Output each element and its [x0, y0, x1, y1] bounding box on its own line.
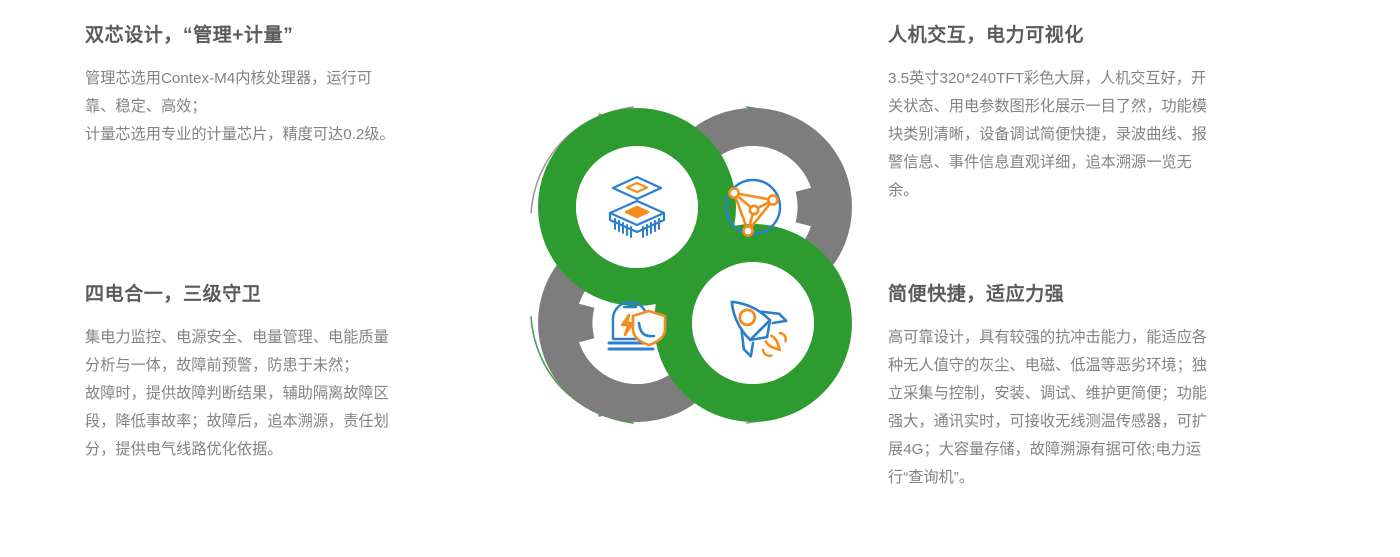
feature-body-line: 故障时，提供故障判断结果，辅助隔离故障区: [85, 380, 515, 408]
feature-body-line: 3.5英寸320*240TFT彩色大屏，人机交互好，开: [888, 65, 1318, 93]
feature-body: 高可靠设计，具有较强的抗冲击能力，能适应各 种无人值守的灰尘、电磁、低温等恶劣环…: [888, 324, 1318, 492]
feature-body-line: 计量芯选用专业的计量芯片，精度可达0.2级。: [85, 121, 515, 149]
central-rings-graphic: [525, 95, 865, 435]
feature-block-four-in-one: 四电合一，三级守卫 集电力监控、电源安全、电量管理、电能质量 分析与一体，故障前…: [85, 283, 515, 464]
feature-body-line: 段，降低事故率；故障后，追本溯源，责任划: [85, 408, 515, 436]
feature-body: 集电力监控、电源安全、电量管理、电能质量 分析与一体，故障前预警，防患于未然； …: [85, 324, 515, 464]
feature-body-line: 分，提供电气线路优化依据。: [85, 436, 515, 464]
feature-body-line: 高可靠设计，具有较强的抗冲击能力，能适应各: [888, 324, 1318, 352]
feature-title: 四电合一，三级守卫: [85, 283, 515, 308]
feature-body: 管理芯选用Contex-M4内核处理器，运行可 靠、稳定、高效； 计量芯选用专业…: [85, 65, 515, 149]
feature-body-line: 靠、稳定、高效；: [85, 93, 515, 121]
feature-title: 双芯设计，“管理+计量”: [85, 24, 515, 49]
feature-body-line: 关状态、用电参数图形化展示一目了然，功能模: [888, 93, 1318, 121]
feature-block-dual-core: 双芯设计，“管理+计量” 管理芯选用Contex-M4内核处理器，运行可 靠、稳…: [85, 24, 515, 149]
feature-block-easy-adaptable: 简便快捷，适应力强 高可靠设计，具有较强的抗冲击能力，能适应各 种无人值守的灰尘…: [888, 283, 1318, 492]
feature-grid-page: 双芯设计，“管理+计量” 管理芯选用Contex-M4内核处理器，运行可 靠、稳…: [0, 0, 1400, 557]
feature-title: 简便快捷，适应力强: [888, 283, 1318, 308]
feature-block-human-machine: 人机交互，电力可视化 3.5英寸320*240TFT彩色大屏，人机交互好，开 关…: [888, 24, 1318, 205]
feature-body-line: 集电力监控、电源安全、电量管理、电能质量: [85, 324, 515, 352]
feature-body-line: 余。: [888, 177, 1318, 205]
feature-body-line: 块类别清晰，设备调试简便快捷，录波曲线、报: [888, 121, 1318, 149]
feature-body-line: 种无人值守的灰尘、电磁、低温等恶劣环境；独: [888, 352, 1318, 380]
feature-body: 3.5英寸320*240TFT彩色大屏，人机交互好，开 关状态、用电参数图形化展…: [888, 65, 1318, 205]
feature-body-line: 立采集与控制，安装、调试、维护更简便；功能: [888, 380, 1318, 408]
feature-body-line: 行“查询机”。: [888, 464, 1318, 492]
feature-body-line: 强大，通讯实时，可接收无线测温传感器，可扩: [888, 408, 1318, 436]
feature-title: 人机交互，电力可视化: [888, 24, 1318, 49]
feature-body-line: 管理芯选用Contex-M4内核处理器，运行可: [85, 65, 515, 93]
feature-body-line: 分析与一体，故障前预警，防患于未然；: [85, 352, 515, 380]
feature-body-line: 警信息、事件信息直观详细，追本溯源一览无: [888, 149, 1318, 177]
feature-body-line: 展4G；大容量存储，故障溯源有据可依;电力运: [888, 436, 1318, 464]
